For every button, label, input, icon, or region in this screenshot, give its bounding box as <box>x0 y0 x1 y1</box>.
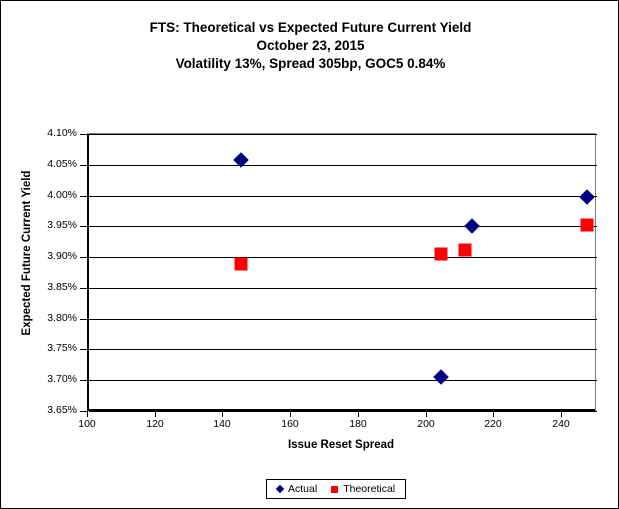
gridline-y <box>89 134 597 135</box>
y-axis-tick <box>80 288 87 289</box>
x-axis-tick-label: 240 <box>541 418 581 430</box>
chart-legend: Actual Theoretical <box>266 479 406 499</box>
chart-title-line-3: Volatility 13%, Spread 305bp, GOC5 0.84% <box>1 55 619 73</box>
square-marker-icon <box>331 486 338 493</box>
data-point-actual <box>579 190 595 206</box>
data-point-theoretical <box>235 258 248 271</box>
plot-area <box>87 134 595 411</box>
gridline-y <box>89 257 597 258</box>
x-axis-tick-label: 180 <box>338 418 378 430</box>
y-axis-tick-label: 4.10% <box>31 128 77 139</box>
y-axis-tick <box>80 165 87 166</box>
y-axis-tick <box>80 196 87 197</box>
x-axis-tick-label: 100 <box>67 418 107 430</box>
chart-title: FTS: Theoretical vs Expected Future Curr… <box>1 19 619 73</box>
y-axis-tick <box>80 257 87 258</box>
x-axis-tick <box>493 411 494 417</box>
data-point-theoretical <box>580 219 593 232</box>
gridline-y <box>89 288 597 289</box>
x-axis-tick-label: 220 <box>473 418 513 430</box>
data-point-theoretical <box>435 248 448 261</box>
gridline-y <box>89 349 597 350</box>
x-axis-tick <box>155 411 156 417</box>
y-axis-tick-label: 4.00% <box>31 190 77 201</box>
x-axis-tick-label: 200 <box>406 418 446 430</box>
x-axis-tick-label: 160 <box>270 418 310 430</box>
y-axis-tick-labels: 3.65%3.70%3.75%3.80%3.85%3.90%3.95%4.00%… <box>27 1 77 509</box>
x-axis-tick <box>87 411 88 417</box>
x-axis-title: Issue Reset Spread <box>87 439 595 451</box>
y-axis-tick-label: 3.85% <box>31 282 77 293</box>
y-axis-tick-label: 3.65% <box>31 405 77 416</box>
x-axis-tick <box>358 411 359 417</box>
y-axis-tick-label: 4.05% <box>31 159 77 170</box>
gridline-y <box>89 380 597 381</box>
chart-title-line-2: October 23, 2015 <box>1 37 619 55</box>
data-point-actual <box>464 219 480 235</box>
legend-label-actual: Actual <box>288 483 317 495</box>
y-axis-tick-label: 3.80% <box>31 313 77 324</box>
x-axis-tick-label: 120 <box>135 418 175 430</box>
chart-container: FTS: Theoretical vs Expected Future Curr… <box>0 0 619 509</box>
gridline-y <box>89 226 597 227</box>
x-axis-tick-label: 140 <box>202 418 242 430</box>
y-axis-tick <box>80 319 87 320</box>
gridline-y <box>89 411 597 412</box>
y-axis-tick-label: 3.90% <box>31 251 77 262</box>
data-point-actual <box>433 369 449 385</box>
legend-label-theoretical: Theoretical <box>343 483 395 495</box>
y-axis-tick <box>80 226 87 227</box>
y-axis-tick <box>80 134 87 135</box>
plot-frame-right <box>595 133 596 412</box>
y-axis-tick-label: 3.75% <box>31 343 77 354</box>
data-point-theoretical <box>458 244 471 257</box>
y-axis-tick-label: 3.70% <box>31 374 77 385</box>
diamond-marker-icon <box>276 485 284 493</box>
y-axis-tick-label: 3.95% <box>31 220 77 231</box>
chart-title-line-1: FTS: Theoretical vs Expected Future Curr… <box>1 19 619 37</box>
legend-item-theoretical: Theoretical <box>331 483 395 495</box>
x-axis-tick <box>561 411 562 417</box>
legend-item-actual: Actual <box>277 483 317 495</box>
gridline-y <box>89 319 597 320</box>
y-axis-tick <box>80 411 87 412</box>
x-axis-tick <box>290 411 291 417</box>
gridline-y <box>89 196 597 197</box>
y-axis-tick <box>80 380 87 381</box>
gridline-y <box>89 165 597 166</box>
x-axis-tick <box>426 411 427 417</box>
y-axis-tick <box>80 349 87 350</box>
x-axis-tick <box>222 411 223 417</box>
